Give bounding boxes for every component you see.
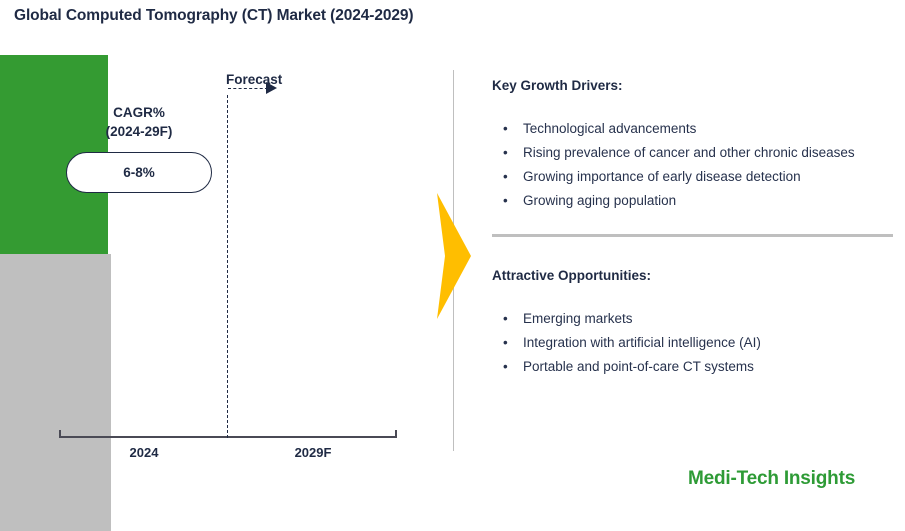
list-item: • Technological advancements <box>492 117 894 141</box>
insights-panel: Key Growth Drivers: • Technological adva… <box>492 78 894 379</box>
forecast-dashed-divider <box>227 95 228 438</box>
opportunities-list: • Emerging markets • Integration with ar… <box>492 307 894 379</box>
list-item-label: Technological advancements <box>523 121 696 136</box>
x-axis-label-2029f: 2029F <box>253 445 373 460</box>
x-axis-cap-left <box>59 430 61 438</box>
x-axis-label-2024: 2024 <box>84 445 204 460</box>
cagr-value: 6-8% <box>123 165 155 180</box>
growth-drivers-block: Key Growth Drivers: • Technological adva… <box>492 78 894 213</box>
list-item: • Growing importance of early disease de… <box>492 165 894 189</box>
opportunities-heading: Attractive Opportunities: <box>492 268 894 283</box>
growth-drivers-list: • Technological advancements • Rising pr… <box>492 117 894 213</box>
list-item-label: Integration with artificial intelligence… <box>523 335 761 350</box>
list-item: • Emerging markets <box>492 307 894 331</box>
cagr-heading: CAGR% (2024-29F) <box>66 103 212 141</box>
x-axis-line <box>59 436 397 438</box>
list-item-label: Rising prevalence of cancer and other ch… <box>523 145 855 160</box>
bullet-icon: • <box>503 307 508 331</box>
brand-logo: Medi-Tech Insights <box>688 468 855 490</box>
list-item-label: Portable and point-of-care CT systems <box>523 359 754 374</box>
list-item: • Growing aging population <box>492 189 894 213</box>
chevron-right-icon <box>437 193 471 319</box>
list-item-label: Growing aging population <box>523 193 676 208</box>
list-item-label: Growing importance of early disease dete… <box>523 169 801 184</box>
bullet-icon: • <box>503 331 508 355</box>
cagr-heading-line1: CAGR% <box>66 103 212 122</box>
slide-canvas: Global Computed Tomography (CT) Market (… <box>0 0 905 531</box>
bullet-icon: • <box>503 117 508 141</box>
bullet-icon: • <box>503 355 508 379</box>
bar-chart: 2024 2029F Forecast CAGR% (2024-29F) 6-8… <box>0 55 450 465</box>
list-item-label: Emerging markets <box>523 311 633 326</box>
bullet-icon: • <box>503 165 508 189</box>
page-title: Global Computed Tomography (CT) Market (… <box>14 7 414 25</box>
bullet-icon: • <box>503 189 508 213</box>
bar-2029f <box>0 254 111 531</box>
bullet-icon: • <box>503 141 508 165</box>
cagr-heading-line2: (2024-29F) <box>66 122 212 141</box>
list-item: • Integration with artificial intelligen… <box>492 331 894 355</box>
list-item: • Rising prevalence of cancer and other … <box>492 141 894 165</box>
forecast-label: Forecast <box>226 72 282 87</box>
growth-drivers-heading: Key Growth Drivers: <box>492 78 894 93</box>
section-divider <box>492 234 893 237</box>
cagr-badge: 6-8% <box>66 152 212 193</box>
x-axis-cap-right <box>395 430 397 438</box>
list-item: • Portable and point-of-care CT systems <box>492 355 894 379</box>
opportunities-block: Attractive Opportunities: • Emerging mar… <box>492 268 894 379</box>
forecast-arrow-line <box>228 88 268 89</box>
